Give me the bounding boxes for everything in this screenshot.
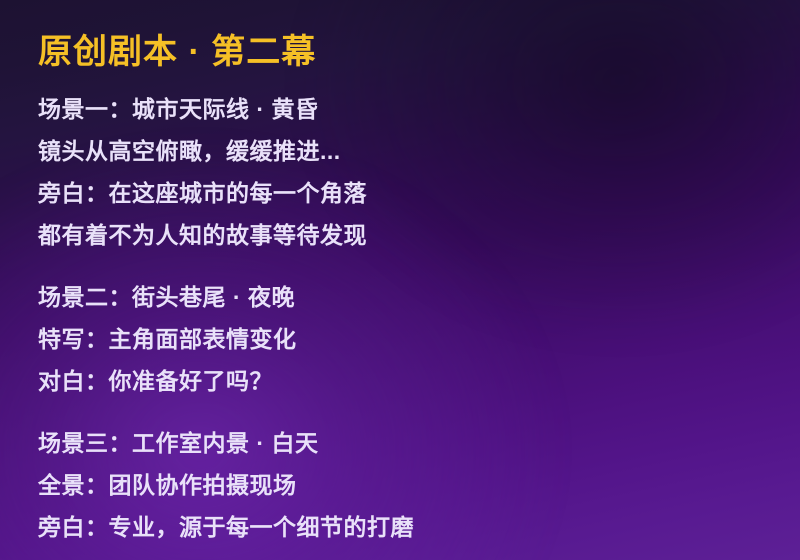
- script-slide: 原创剧本 · 第二幕 场景一：城市天际线 · 黄昏镜头从高空俯瞰，缓缓推进...…: [0, 0, 800, 560]
- scene-block: 场景一：城市天际线 · 黄昏镜头从高空俯瞰，缓缓推进...旁白：在这座城市的每一…: [38, 88, 800, 256]
- slide-content: 原创剧本 · 第二幕 场景一：城市天际线 · 黄昏镜头从高空俯瞰，缓缓推进...…: [38, 0, 800, 560]
- script-line: 场景一：城市天际线 · 黄昏: [38, 88, 800, 130]
- script-line: 旁白：在这座城市的每一个角落: [38, 172, 800, 214]
- scene-block: 场景二：街头巷尾 · 夜晚特写：主角面部表情变化对白：你准备好了吗？: [38, 276, 800, 402]
- script-line: 场景三：工作室内景 · 白天: [38, 422, 800, 464]
- script-body: 场景一：城市天际线 · 黄昏镜头从高空俯瞰，缓缓推进...旁白：在这座城市的每一…: [38, 88, 800, 548]
- script-line: 场景二：街头巷尾 · 夜晚: [38, 276, 800, 318]
- script-line: 都有着不为人知的故事等待发现: [38, 214, 800, 256]
- script-line: 特写：主角面部表情变化: [38, 318, 800, 360]
- script-line: 全景：团队协作拍摄现场: [38, 464, 800, 506]
- page-title: 原创剧本 · 第二幕: [38, 33, 316, 72]
- script-line: 对白：你准备好了吗？: [38, 360, 800, 402]
- script-line: 镜头从高空俯瞰，缓缓推进...: [38, 130, 800, 172]
- scene-block: 场景三：工作室内景 · 白天全景：团队协作拍摄现场旁白：专业，源于每一个细节的打…: [38, 422, 800, 548]
- script-line: 旁白：专业，源于每一个细节的打磨: [38, 506, 800, 548]
